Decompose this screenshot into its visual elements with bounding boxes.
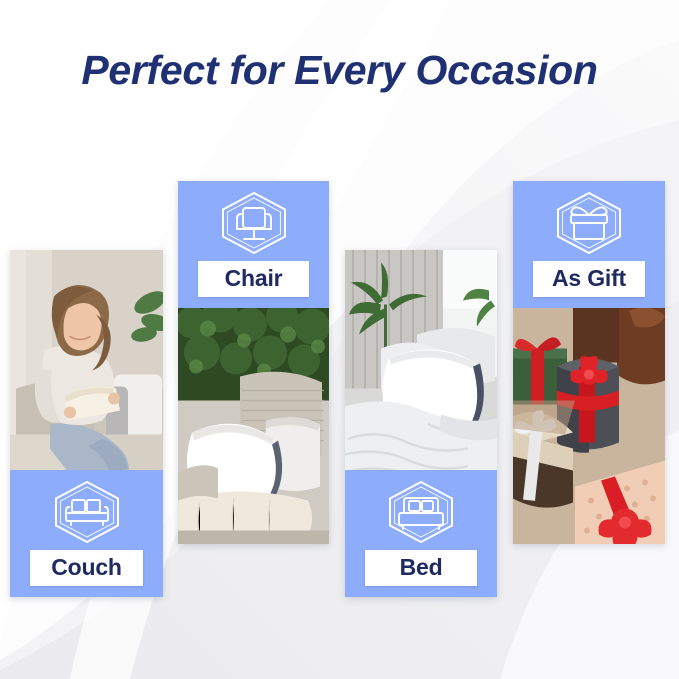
- bed-photo: [345, 250, 497, 470]
- couch-label-box: Couch: [30, 550, 143, 586]
- gift-label-box: As Gift: [533, 261, 645, 297]
- chair-photo: [178, 308, 329, 544]
- bed-photo-illustration: [345, 250, 497, 470]
- sofa-icon: [50, 479, 124, 545]
- card-couch[interactable]: Couch: [10, 250, 163, 597]
- bed-icon: [384, 479, 458, 545]
- promo-banner: Perfect for Every Occasion: [0, 0, 679, 679]
- chair-label-box: Chair: [198, 261, 310, 297]
- bed-label-box: Bed: [365, 550, 477, 586]
- card-gift[interactable]: As Gift: [513, 181, 665, 544]
- chair-panel: Chair: [178, 181, 329, 308]
- chair-photo-illustration: [178, 308, 329, 544]
- chair-label: Chair: [225, 265, 283, 291]
- card-chair[interactable]: Chair: [178, 181, 329, 544]
- chair-icon: [217, 190, 291, 256]
- gift-label: As Gift: [552, 265, 626, 291]
- couch-photo-illustration: [10, 250, 163, 470]
- gift-photo: [513, 308, 665, 544]
- gift-photo-illustration: [513, 308, 665, 544]
- couch-panel: Couch: [10, 470, 163, 597]
- couch-label: Couch: [51, 554, 122, 580]
- bed-panel: Bed: [345, 470, 497, 597]
- card-bed[interactable]: Bed: [345, 250, 497, 597]
- gift-panel: As Gift: [513, 181, 665, 308]
- page-title: Perfect for Every Occasion: [0, 44, 679, 96]
- couch-photo: [10, 250, 163, 470]
- gift-icon: [552, 190, 626, 256]
- bed-label: Bed: [400, 554, 443, 580]
